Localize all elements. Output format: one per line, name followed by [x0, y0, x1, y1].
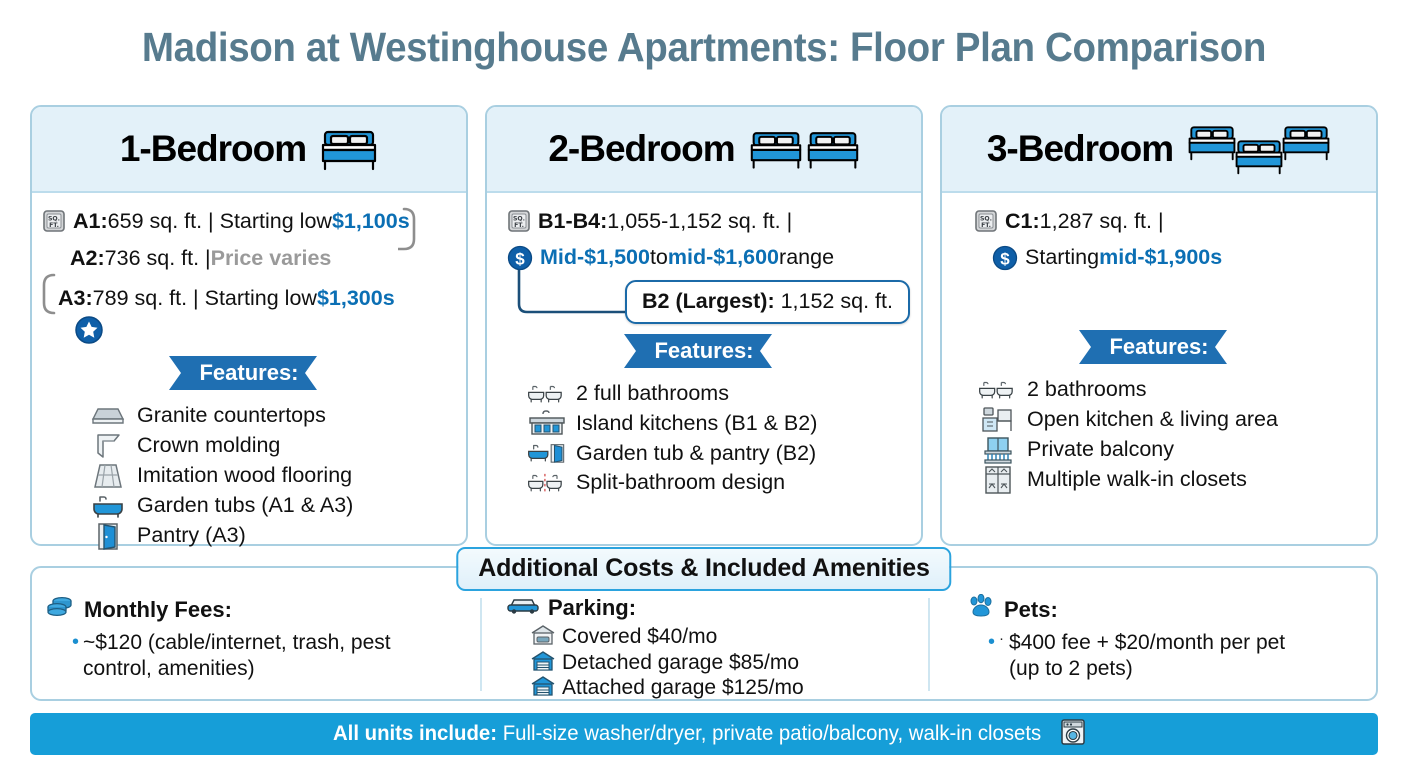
- two-bathtubs-icon: [978, 377, 1018, 403]
- split-bathroom-icon: [527, 470, 567, 496]
- feature-label: Pantry (A3): [137, 521, 246, 551]
- feature-label: Open kitchen & living area: [1027, 405, 1278, 435]
- feature-item: Island kitchens (B1 & B2): [527, 409, 921, 439]
- price-range-high: mid-$1,600: [668, 243, 779, 271]
- car-icon: [506, 594, 540, 622]
- features-label-1: Features:: [169, 356, 328, 390]
- bottom-list-item: Detached garage $85/mo: [494, 650, 914, 676]
- bottom-item-text: $400 fee + $20/month per pet (up to 2 pe…: [1009, 630, 1318, 681]
- bed-icon: [749, 127, 803, 171]
- unit-detail-b1-b4: 1,055-1,152 sq. ft. |: [607, 207, 792, 235]
- features-label-2: Features:: [624, 334, 783, 368]
- card-title-3-bedroom: 3-Bedroom: [987, 128, 1173, 170]
- washer-icon: [1060, 718, 1086, 751]
- svg-text:$: $: [1000, 249, 1010, 268]
- feature-label: Private balcony: [1027, 435, 1174, 465]
- callout-b2: B2 (Largest): 1,152 sq. ft.: [625, 280, 910, 324]
- price-range-low: Mid-$1,500: [540, 243, 650, 271]
- star-badge-wrap: [42, 315, 456, 350]
- coins-icon: [46, 594, 76, 626]
- bed-icon-group-1: [320, 126, 378, 172]
- feature-label: Crown molding: [137, 431, 280, 461]
- open-kitchen-icon: [978, 405, 1018, 435]
- feature-item: Private balcony: [978, 435, 1376, 465]
- infographic-root: Madison at Westinghouse Apartments: Floo…: [0, 0, 1408, 768]
- unit-row-b-price: $ Mid-$1,500 to mid-$1,600 range: [497, 243, 911, 271]
- features-ribbon-1: Features:: [169, 356, 328, 390]
- bottom-group-label: Parking:: [548, 595, 636, 621]
- bottom-list-item: Attached garage $125/mo: [494, 675, 914, 701]
- island-kitchen-icon: [527, 410, 567, 438]
- footer-text-wrap: All units include: Full-size washer/drye…: [333, 722, 1041, 746]
- feature-list-2: 2 full bathrooms Island kitchens: [487, 379, 921, 499]
- bottom-group-pets: Pets: • · $400 fee + $20/month per pet (…: [928, 594, 1376, 699]
- feature-list-3: 2 bathrooms Open kitchen & living area: [942, 375, 1376, 495]
- floorplan-columns: 1-Bedroom: [30, 105, 1378, 546]
- unit-detail-c1: 1,287 sq. ft. |: [1040, 207, 1164, 235]
- bed-icon-group-2: [749, 127, 860, 171]
- unit-code-a2: A2:: [70, 244, 105, 272]
- additional-costs-panel: Additional Costs & Included Amenities: [30, 566, 1378, 701]
- feature-item: 2 full bathrooms: [527, 379, 921, 409]
- bottom-group-monthly-fees: Monthly Fees: • ~$120 (cable/internet, t…: [32, 594, 480, 699]
- unit-row-c1: SQ. FT. C1: 1,287 sq. ft. |: [952, 207, 1366, 235]
- garage-icon: [530, 675, 556, 697]
- feature-label: 2 bathrooms: [1027, 375, 1147, 405]
- floorplan-card-1-bedroom: 1-Bedroom: [30, 105, 468, 546]
- features-ribbon-2: Features:: [624, 334, 783, 368]
- feature-label: 2 full bathrooms: [576, 379, 729, 409]
- unit-price-a1: $1,100s: [332, 207, 410, 235]
- dollar-badge-icon: $: [992, 245, 1018, 271]
- feature-label: Island kitchens (B1 & B2): [576, 409, 817, 439]
- unit-code-b1-b4: B1-B4:: [538, 207, 607, 235]
- floorplan-card-2-bedroom: 2-Bedroom: [485, 105, 923, 546]
- paw-icon: [966, 594, 996, 626]
- unit-price-a2: Price varies: [211, 244, 332, 272]
- callout-connector: [511, 270, 641, 322]
- page-title: Madison at Westinghouse Apartments: Floo…: [42, 24, 1366, 71]
- bottom-group-parking: Parking: Covered $40/mo: [480, 594, 928, 699]
- svg-text:FT.: FT.: [514, 222, 524, 229]
- unit-detail-a1: 659 sq. ft. | Starting low: [108, 207, 332, 235]
- bottom-group-label: Monthly Fees:: [84, 597, 232, 623]
- feature-item: Garden tubs (A1 & A3): [88, 491, 466, 521]
- feature-label: Granite countertops: [137, 401, 326, 431]
- unit-row-a2: A2: 736 sq. ft. | Price varies: [42, 244, 456, 272]
- bed-icon: [1234, 136, 1284, 176]
- unit-list-3-bedroom: SQ. FT. C1: 1,287 sq. ft. | $ Starting m…: [942, 193, 1376, 272]
- feature-item: Granite countertops: [88, 401, 466, 431]
- bullet-dot: •: [72, 630, 79, 654]
- callout-label: B2 (Largest):: [642, 289, 775, 313]
- wood-flooring-icon: [88, 462, 128, 490]
- bottom-group-heading: Pets:: [942, 594, 1362, 626]
- feature-item: Split-bathroom design: [527, 468, 921, 498]
- granite-countertop-icon: [88, 405, 128, 427]
- feature-item: Open kitchen & living area: [978, 405, 1376, 435]
- price-range-suffix: range: [779, 243, 834, 271]
- price-prefix-c1: Starting: [1025, 243, 1099, 271]
- callout-wrap: B2 (Largest): 1,152 sq. ft.: [497, 274, 911, 332]
- bed-icon: [1281, 122, 1331, 162]
- unit-code-a1: A1:: [73, 207, 108, 235]
- additional-costs-legend: Additional Costs & Included Amenities: [456, 547, 951, 591]
- feature-item: Garden tub & pantry (B2): [527, 439, 921, 469]
- sq-ft-icon: SQ. FT.: [42, 209, 66, 233]
- unit-price-a3: $1,300s: [317, 284, 395, 312]
- feature-label: Split-bathroom design: [576, 468, 785, 498]
- features-ribbon-row-1: Features:: [32, 356, 466, 390]
- bottom-item-text: ~$120 (cable/internet, trash, pest contr…: [83, 630, 442, 681]
- feature-item: 2 bathrooms: [978, 375, 1376, 405]
- bottom-list-item: • · $400 fee + $20/month per pet (up to …: [942, 630, 1318, 681]
- feature-item: Imitation wood flooring: [88, 461, 466, 491]
- bed-icon: [1187, 122, 1237, 162]
- bottom-list-item: • ~$120 (cable/internet, trash, pest con…: [46, 630, 442, 681]
- unit-row-a1: SQ. FT. A1: 659 sq. ft. | Starting low $…: [42, 207, 456, 235]
- svg-text:$: $: [515, 249, 525, 268]
- svg-text:FT.: FT.: [981, 222, 991, 229]
- card-title-2-bedroom: 2-Bedroom: [548, 128, 734, 170]
- feature-item: Multiple walk-in closets: [978, 465, 1376, 495]
- svg-text:FT.: FT.: [49, 222, 59, 229]
- bottom-item-text: Covered $40/mo: [562, 624, 717, 650]
- feature-label: Multiple walk-in closets: [1027, 465, 1247, 495]
- features-ribbon-row-3: Features:: [942, 330, 1376, 364]
- two-bathtubs-icon: [527, 381, 567, 407]
- tub-pantry-icon: [527, 439, 567, 467]
- balcony-icon: [978, 435, 1018, 465]
- callout-value: 1,152 sq. ft.: [775, 289, 893, 313]
- unit-detail-a3: 789 sq. ft. | Starting low: [93, 284, 317, 312]
- bullet-dot-secondary: ·: [999, 630, 1004, 648]
- sq-ft-icon: SQ. FT.: [507, 209, 531, 233]
- star-badge-icon: [74, 315, 104, 345]
- features-ribbon-row-2: Features:: [487, 334, 921, 368]
- footer-text: Full-size washer/dryer, private patio/ba…: [497, 722, 1041, 745]
- card-header-2-bedroom: 2-Bedroom: [487, 107, 921, 193]
- bottom-group-label: Pets:: [1004, 597, 1058, 623]
- bullet-dot: •: [988, 630, 995, 654]
- bottom-item-text: Detached garage $85/mo: [562, 650, 799, 676]
- bed-icon: [806, 127, 860, 171]
- bottom-group-heading: Monthly Fees:: [46, 594, 466, 626]
- unit-row-a3: A3: 789 sq. ft. | Starting low $1,300s: [42, 284, 456, 312]
- sq-ft-icon: SQ. FT.: [974, 209, 998, 233]
- door-icon: [88, 521, 128, 551]
- feature-label: Imitation wood flooring: [137, 461, 352, 491]
- dollar-badge-icon: $: [507, 245, 533, 271]
- card-header-1-bedroom: 1-Bedroom: [32, 107, 466, 193]
- unit-row-b1-b4: SQ. FT. B1-B4: 1,055-1,152 sq. ft. |: [497, 207, 911, 235]
- bed-icon: [320, 126, 378, 172]
- feature-label: Garden tub & pantry (B2): [576, 439, 816, 469]
- unit-list-2-bedroom: SQ. FT. B1-B4: 1,055-1,152 sq. ft. | $ M…: [487, 193, 921, 332]
- features-ribbon-3: Features:: [1079, 330, 1238, 364]
- unit-code-a3: A3:: [58, 284, 93, 312]
- floorplan-card-3-bedroom: 3-Bedroom: [940, 105, 1378, 546]
- feature-item: Pantry (A3): [88, 521, 466, 551]
- all-units-banner: All units include: Full-size washer/drye…: [30, 713, 1378, 755]
- unit-row-c-price: $ Starting mid-$1,900s: [952, 243, 1366, 271]
- bathtub-icon: [88, 493, 128, 519]
- garage-icon: [530, 650, 556, 672]
- unit-code-c1: C1:: [1005, 207, 1040, 235]
- closet-icon: [978, 465, 1018, 495]
- card-header-3-bedroom: 3-Bedroom: [942, 107, 1376, 193]
- bottom-list-item: Covered $40/mo: [494, 624, 914, 650]
- bottom-item-text: Attached garage $125/mo: [562, 675, 804, 701]
- footer-bold-label: All units include:: [333, 722, 497, 745]
- unit-detail-a2: 736 sq. ft. |: [105, 244, 211, 272]
- features-label-3: Features:: [1079, 330, 1238, 364]
- bed-icon-group-3: [1187, 122, 1331, 176]
- card-title-1-bedroom: 1-Bedroom: [120, 128, 306, 170]
- price-range-join: to: [650, 243, 668, 271]
- carport-icon: [530, 624, 556, 646]
- crown-molding-icon: [88, 432, 128, 460]
- feature-item: Crown molding: [88, 431, 466, 461]
- bottom-group-heading: Parking:: [494, 594, 914, 622]
- price-value-c1: mid-$1,900s: [1099, 243, 1222, 271]
- feature-list-1: Granite countertops Crown molding: [32, 401, 466, 551]
- unit-list-1-bedroom: SQ. FT. A1: 659 sq. ft. | Starting low $…: [32, 193, 466, 350]
- feature-label: Garden tubs (A1 & A3): [137, 491, 353, 521]
